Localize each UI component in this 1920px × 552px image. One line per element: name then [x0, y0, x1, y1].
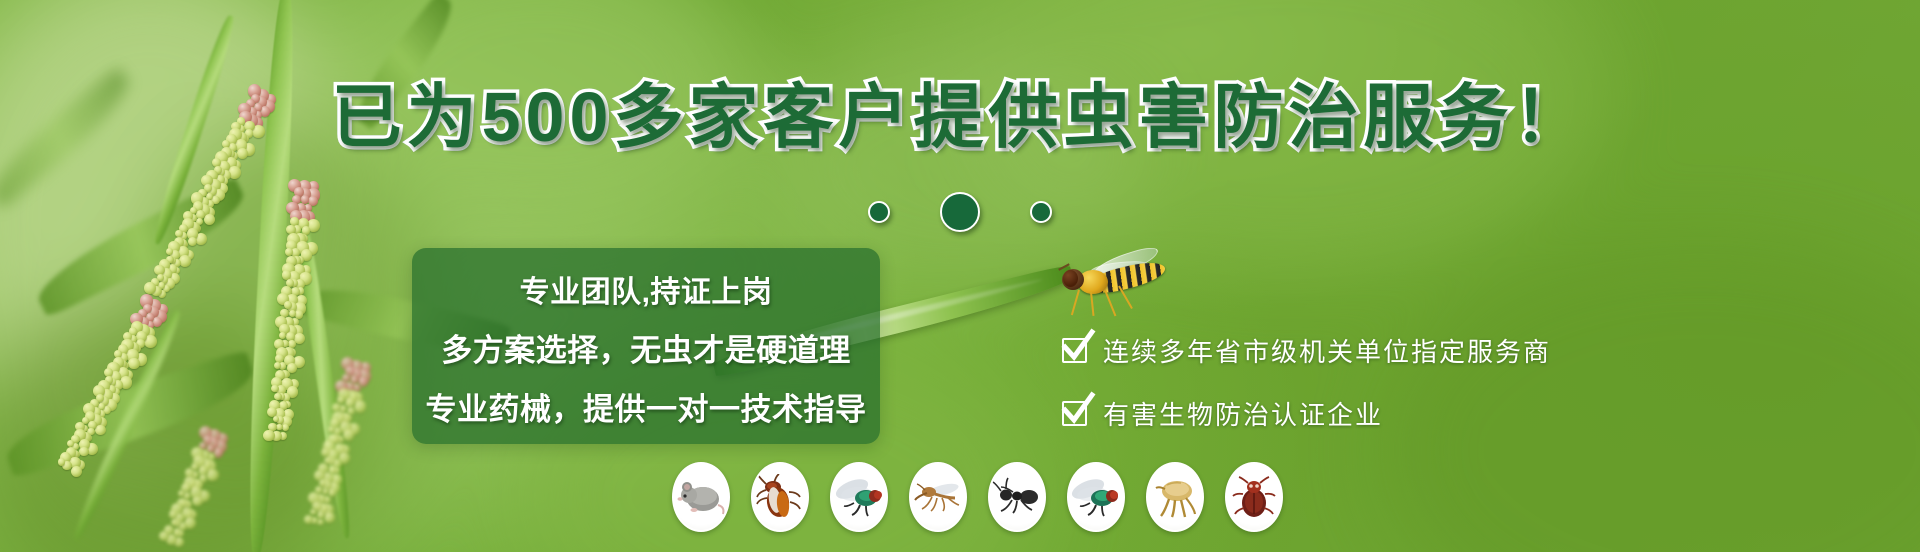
ant-icon — [988, 462, 1046, 532]
housefly-icon — [830, 462, 888, 532]
pest-icon-row — [672, 462, 1283, 532]
checkmark-icon — [1062, 338, 1087, 363]
credential-list: 连续多年省市级机关单位指定服务商 有害生物防治认证企业 — [1062, 332, 1682, 458]
checkmark-icon — [1062, 401, 1087, 426]
decorative-dots — [0, 192, 1920, 232]
dot-small-right — [1030, 201, 1052, 223]
mouse-icon — [672, 462, 730, 532]
feature-panel-line-2: 多方案选择，无虫才是硬道理 — [412, 325, 880, 370]
mosquito-icon — [909, 462, 967, 532]
feature-panel-line-1: 专业团队,持证上岗 — [412, 267, 880, 311]
feature-panel-line-3: 专业药械，提供一对一技术指导 — [412, 384, 880, 429]
feature-panel: 专业团队,持证上岗 多方案选择，无虫才是硬道理 专业药械，提供一对一技术指导 — [412, 248, 880, 444]
credential-label: 连续多年省市级机关单位指定服务商 — [1103, 332, 1551, 369]
dot-small-left — [868, 201, 890, 223]
banner-headline-text: 已为500多家客户提供虫害防治服务！ — [332, 78, 1589, 156]
credential-label: 有害生物防治认证企业 — [1103, 395, 1383, 432]
cockroach-icon — [751, 462, 809, 532]
banner-headline: 已为500多家客户提供虫害防治服务！ — [0, 82, 1920, 152]
dot-large-center — [940, 192, 980, 232]
blowfly-icon — [1067, 462, 1125, 532]
flea-icon — [1146, 462, 1204, 532]
credential-item: 连续多年省市级机关单位指定服务商 — [1062, 332, 1682, 369]
credential-item: 有害生物防治认证企业 — [1062, 395, 1682, 432]
hoverfly-image — [1040, 248, 1170, 318]
bedbug-icon — [1225, 462, 1283, 532]
pest-control-hero-banner: 已为500多家客户提供虫害防治服务！ 专业团队,持证上岗 多方案选择，无虫才是硬… — [0, 0, 1920, 552]
